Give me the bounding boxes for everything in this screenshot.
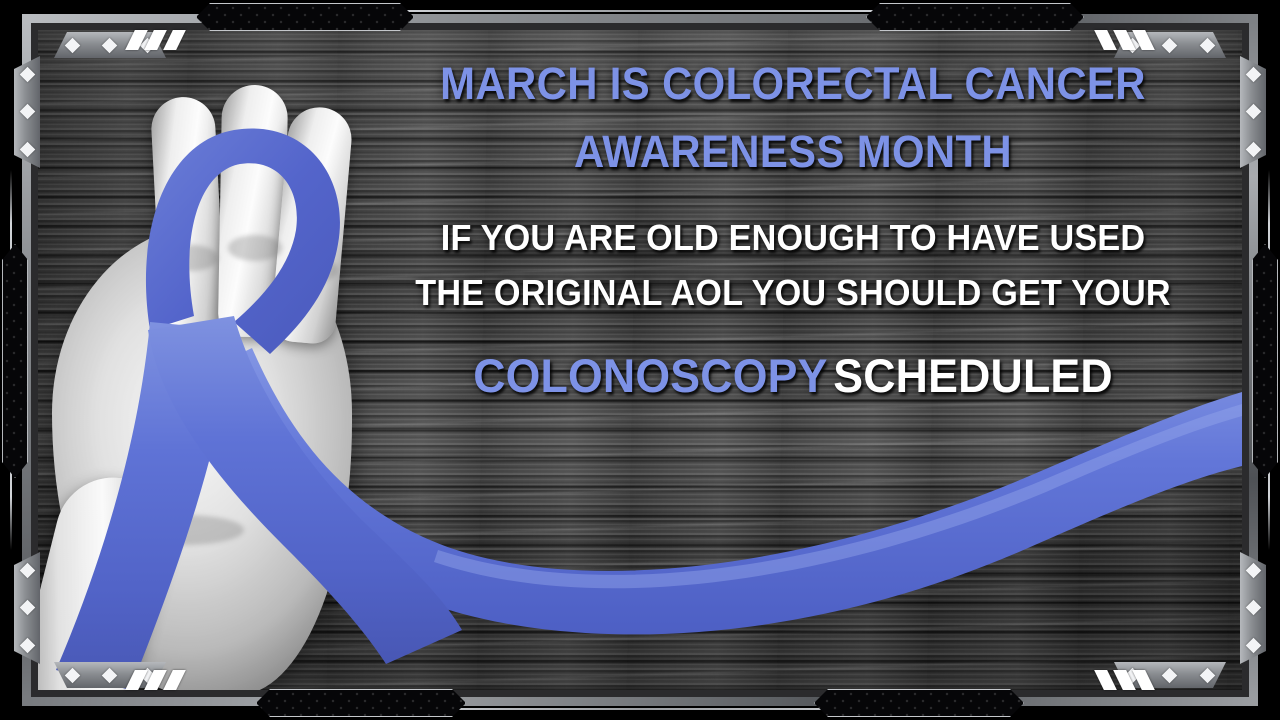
hex-mesh-panel-top-right — [866, 3, 1084, 31]
diamond-stud-icon — [102, 37, 118, 53]
frame-bezel-inner — [31, 23, 1249, 697]
stud-plate-left-bottom — [14, 552, 40, 664]
slash-marks-top-left — [130, 30, 181, 50]
diamond-stud-icon — [1245, 563, 1261, 579]
hex-mesh-panel-top-left — [196, 3, 414, 31]
hex-mesh-panel-bottom-left — [256, 689, 466, 717]
diamond-stud-icon — [1245, 67, 1261, 83]
hex-mesh-panel-right — [1252, 244, 1278, 478]
diamond-stud-icon — [1245, 600, 1261, 616]
diamond-stud-icon — [1162, 667, 1178, 683]
slash-marks-bottom-left — [130, 670, 181, 690]
hex-mesh-panel-left — [2, 244, 28, 478]
diamond-stud-icon — [1245, 104, 1261, 120]
stud-plate-left-top — [14, 56, 40, 168]
diamond-stud-icon — [1245, 638, 1261, 654]
diamond-stud-icon — [19, 638, 35, 654]
diamond-stud-icon — [19, 142, 35, 158]
diamond-stud-icon — [102, 667, 118, 683]
slash-icon — [1113, 30, 1136, 50]
decorative-frame — [0, 0, 1280, 720]
diamond-stud-icon — [19, 67, 35, 83]
diamond-stud-icon — [1245, 142, 1261, 158]
diamond-stud-icon — [19, 104, 35, 120]
diamond-stud-icon — [1200, 667, 1216, 683]
poster-stage: MARCH IS COLORECTAL CANCER AWARENESS MON… — [0, 0, 1280, 720]
diamond-stud-icon — [19, 600, 35, 616]
diamond-stud-icon — [1162, 37, 1178, 53]
slash-marks-bottom-right — [1099, 670, 1150, 690]
diamond-stud-icon — [65, 667, 81, 683]
diamond-stud-icon — [1200, 37, 1216, 53]
stud-plate-right-top — [1240, 56, 1266, 168]
diamond-stud-icon — [19, 563, 35, 579]
hex-mesh-panel-bottom-right — [814, 689, 1024, 717]
stud-plate-right-bottom — [1240, 552, 1266, 664]
diamond-stud-icon — [65, 37, 81, 53]
slash-icon — [1113, 670, 1136, 690]
slash-marks-top-right — [1099, 30, 1150, 50]
